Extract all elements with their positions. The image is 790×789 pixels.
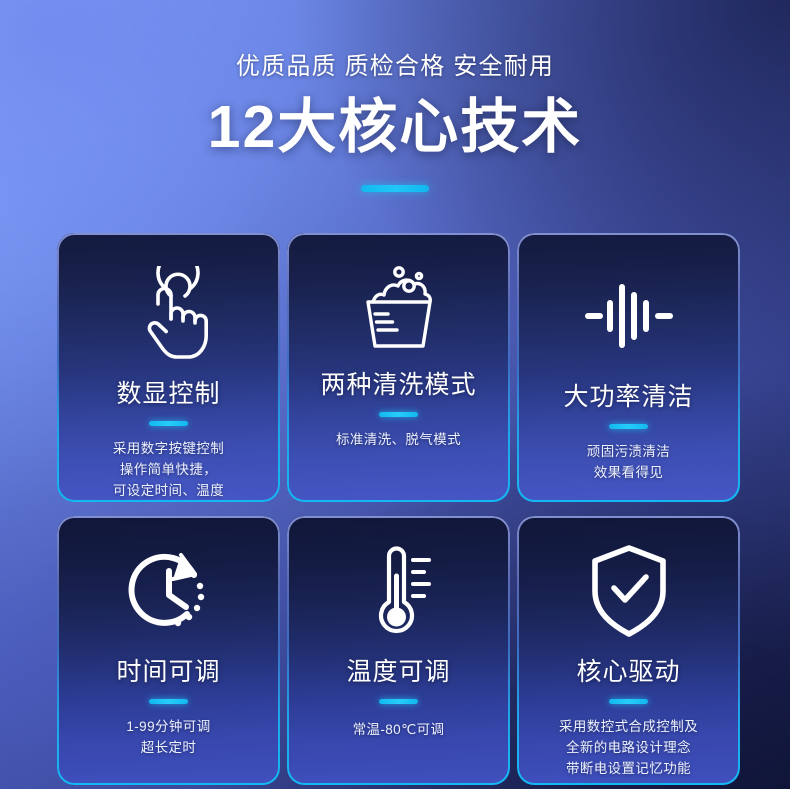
card-description-line: 全新的电路设计理念 <box>559 738 698 759</box>
card-title: 数显控制 <box>116 382 220 407</box>
sound-wave-icon <box>582 253 676 379</box>
card-divider-bar <box>609 699 648 704</box>
card-description-line: 常温-80℃可调 <box>353 720 445 741</box>
card-divider-bar <box>609 424 648 429</box>
card-description: 采用数控式合成控制及 全新的电路设计理念 带断电设置记忆功能 <box>559 717 698 780</box>
card-description-line: 1-99分钟可调 <box>126 717 210 738</box>
card-title: 温度可调 <box>346 660 450 685</box>
card-description-line: 采用数字按键控制 <box>113 439 224 460</box>
card-description: 标准清洗、脱气模式 <box>336 430 461 451</box>
feature-card-adjustable-time[interactable]: 时间可调 1-99分钟可调 超长定时 <box>57 516 280 785</box>
card-description: 顽固污渍清洁 效果看得见 <box>587 442 670 484</box>
card-title: 核心驱动 <box>576 660 680 685</box>
header-eyebrow: 优质品质 质检合格 安全耐用 <box>0 54 790 80</box>
tap-hand-icon <box>125 251 213 376</box>
card-divider-bar <box>379 412 418 417</box>
card-divider-bar <box>379 699 418 704</box>
card-description-line: 带断电设置记忆功能 <box>559 759 698 780</box>
clock-arrow-icon <box>121 528 217 654</box>
header-divider-bar <box>361 185 429 192</box>
card-divider-bar <box>149 699 188 704</box>
card-description-line: 顽固污渍清洁 <box>587 442 670 463</box>
feature-card-digital-control[interactable]: 数显控制 采用数字按键控制 操作简单快捷， 可设定时间、温度 <box>57 233 280 502</box>
card-description-line: 标准清洗、脱气模式 <box>336 430 461 451</box>
card-title: 大功率清洁 <box>563 385 693 410</box>
card-title: 时间可调 <box>116 660 220 685</box>
card-title: 两种清洗模式 <box>320 373 476 398</box>
feature-card-high-power-clean[interactable]: 大功率清洁 顽固污渍清洁 效果看得见 <box>517 233 740 502</box>
card-description-line: 操作简单快捷， <box>113 460 224 481</box>
shield-check-icon <box>588 528 670 654</box>
card-description-line: 采用数控式合成控制及 <box>559 717 698 738</box>
feature-card-adjustable-temperature[interactable]: 温度可调 常温-80℃可调 <box>287 516 510 785</box>
card-description-line: 可设定时间、温度 <box>113 481 224 502</box>
card-description-line: 超长定时 <box>126 738 210 759</box>
card-description-line: 效果看得见 <box>587 463 670 484</box>
page-title: 12大核心技术 <box>0 96 790 159</box>
feature-card-grid: 数显控制 采用数字按键控制 操作简单快捷， 可设定时间、温度 两种清洗模式 标准… <box>57 233 740 785</box>
card-description: 常温-80℃可调 <box>353 720 445 741</box>
feature-card-wash-modes[interactable]: 两种清洗模式 标准清洗、脱气模式 <box>287 233 510 502</box>
thermometer-icon <box>363 528 435 654</box>
feature-card-core-drive[interactable]: 核心驱动 采用数控式合成控制及 全新的电路设计理念 带断电设置记忆功能 <box>517 516 740 785</box>
wash-basin-bubbles-icon <box>353 245 445 371</box>
page-header: 优质品质 质检合格 安全耐用 12大核心技术 <box>0 0 790 192</box>
card-description: 采用数字按键控制 操作简单快捷， 可设定时间、温度 <box>113 439 224 502</box>
card-description: 1-99分钟可调 超长定时 <box>126 717 210 759</box>
card-divider-bar <box>149 421 188 426</box>
